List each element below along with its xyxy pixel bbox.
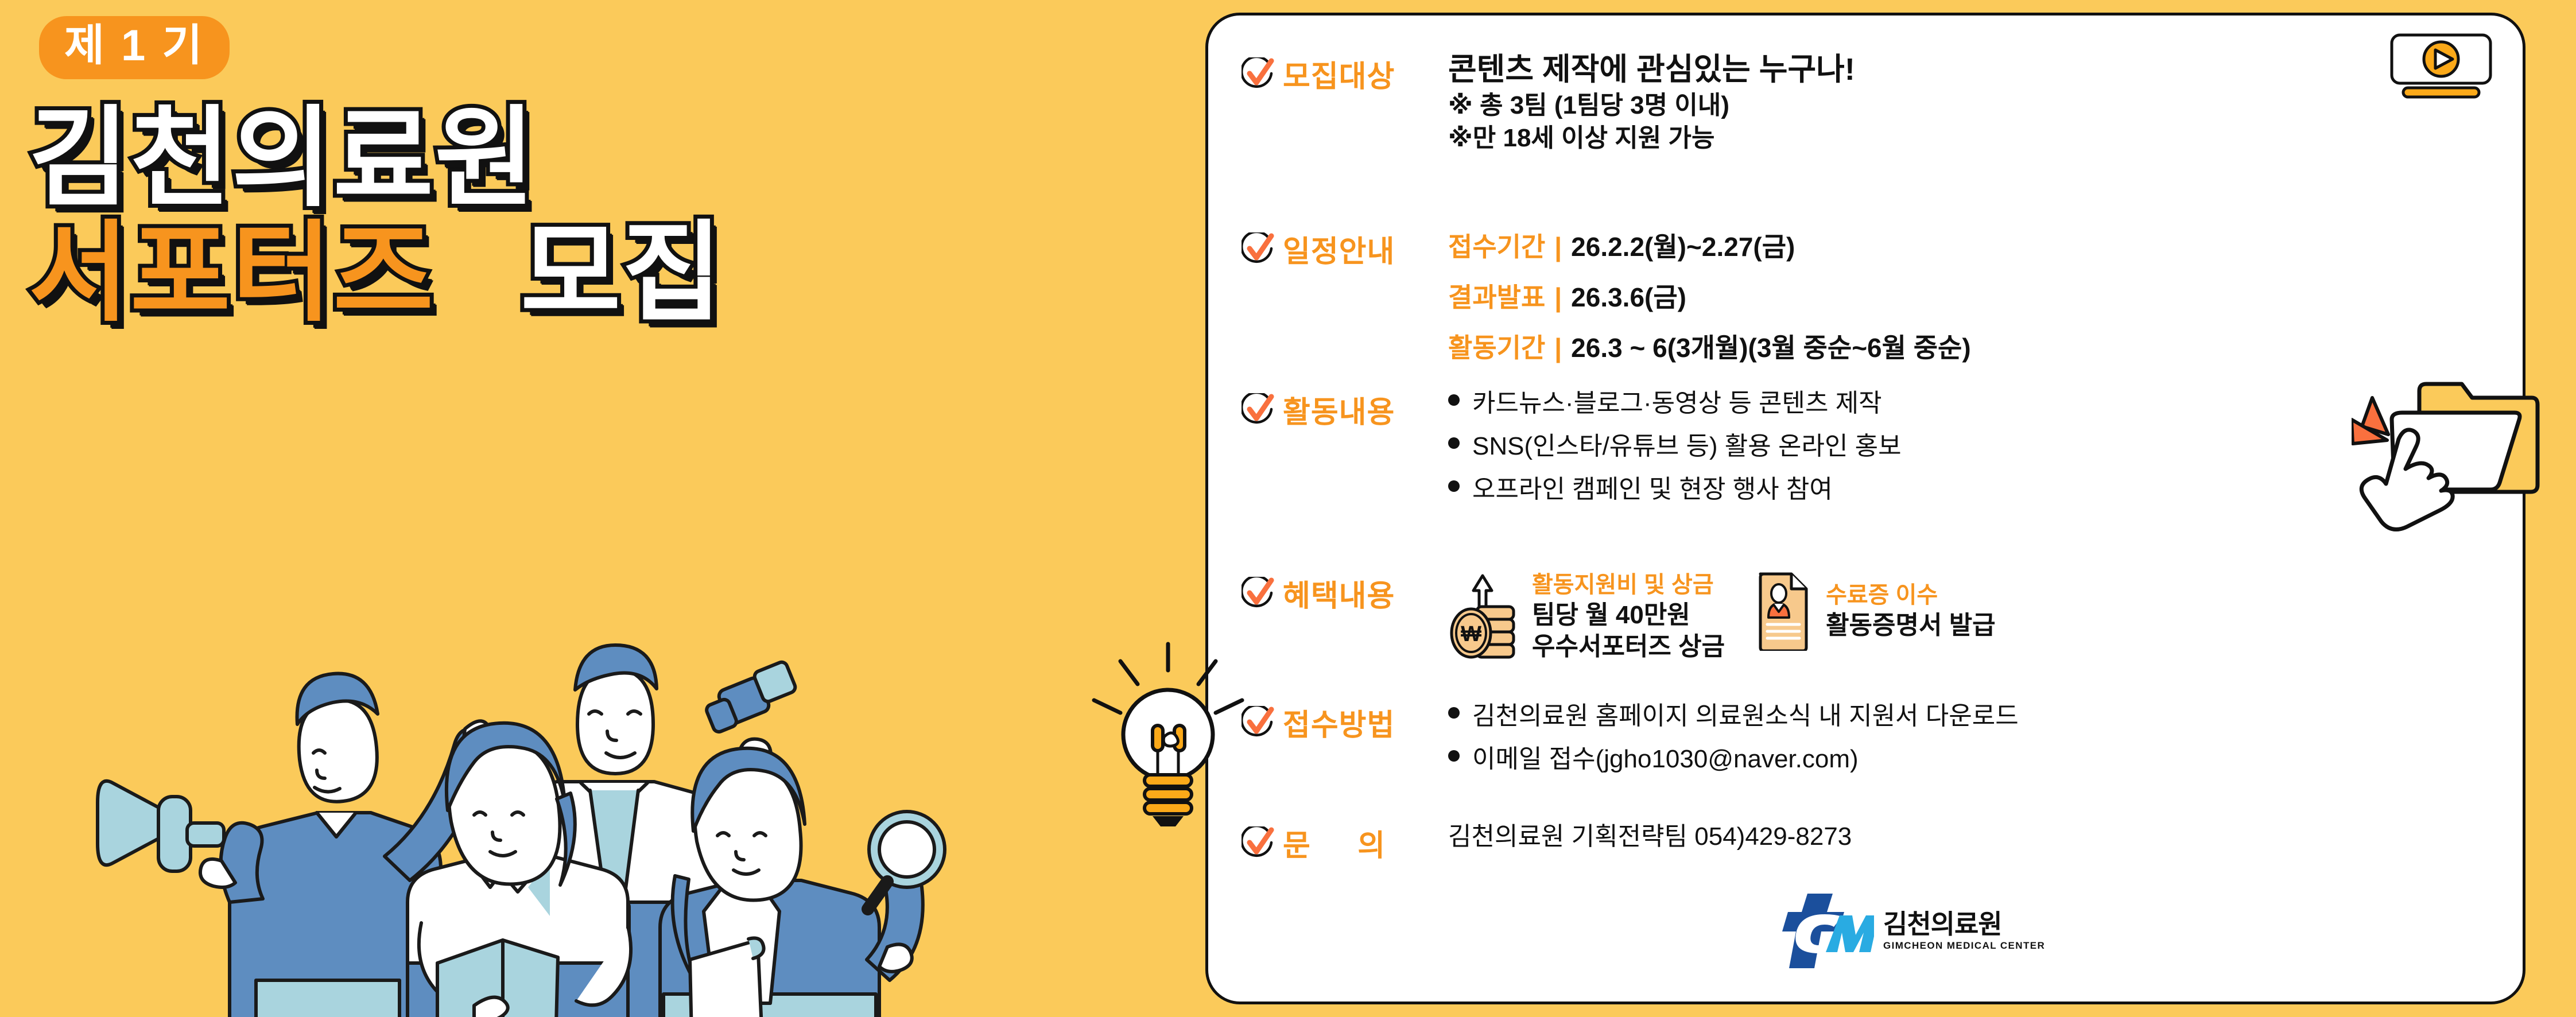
section-schedule: 일정안내 접수기간 | 26.2.2(월)~2.27(금) 결과발표 | 26.…	[1242, 225, 1971, 378]
activity-bullet-1: 카드뉴스·블로그·동영상 등 콘텐츠 제작	[1448, 387, 1902, 421]
schedule-value: 26.2.2(월)~2.27(금)	[1571, 226, 1795, 264]
apply-text-homepage: 김천의료원 홈페이지 의료원소식 내 지원서 다운로드	[1472, 700, 2019, 733]
benefit-line-1: 팀당 월 40만원	[1532, 599, 1725, 631]
headline-word-organization: 김천의료원	[29, 106, 536, 211]
activity-text: 카드뉴스·블로그·동영상 등 콘텐츠 제작	[1472, 387, 1882, 421]
section-label-benefits: 혜택내용	[1242, 569, 1448, 615]
bullet-dot-icon	[1448, 707, 1460, 719]
section-body-inquiry: 김천의료원 기획전략팀 054)429-8273	[1448, 819, 1852, 854]
bullet-dot-icon	[1448, 437, 1460, 449]
headline-line-1: 김천의료원	[29, 106, 1211, 211]
schedule-value: 26.3 ~ 6(3개월)(3월 중순~6월 중순)	[1571, 327, 1971, 365]
section-body-benefits: ₩ 활동지원비 및 상금 팀당 월 40만원 우수서포터즈 상금	[1448, 569, 1996, 662]
benefit-title: 수료증 이수	[1826, 581, 1996, 610]
section-label-text: 혜택내용	[1283, 572, 1395, 615]
headline-word-supporters: 서포터즈	[29, 221, 434, 325]
section-how-to-apply: 접수방법 김천의료원 홈페이지 의료원소식 내 지원서 다운로드 이메일 접수(…	[1242, 698, 2019, 786]
poster-left-panel: 제 1 기 김천의료원 서포터즈 모집	[0, 0, 1211, 1017]
check-circle-icon	[1242, 826, 1275, 860]
section-label-text: 접수방법	[1283, 701, 1395, 744]
check-circle-icon	[1242, 706, 1275, 739]
supporters-team-illustration	[86, 500, 1027, 1017]
apply-bullet-2[interactable]: 이메일 접수(jgho1030@naver.com)	[1448, 743, 2019, 777]
bullet-dot-icon	[1448, 750, 1460, 762]
schedule-separator: |	[1554, 231, 1562, 262]
poster-content-card: 모집대상 콘텐츠 제작에 관심있는 누구나! ※ 총 3팀 (1팀당 3명 이내…	[1205, 13, 2525, 1004]
schedule-key: 결과발표	[1448, 277, 1545, 315]
section-label-text: 모집대상	[1283, 52, 1395, 95]
schedule-key: 활동기간	[1448, 327, 1545, 365]
recruit-target-headline: 콘텐츠 제작에 관심있는 누구나!	[1448, 51, 1855, 89]
benefit-line-2: 우수서포터즈 상금	[1532, 631, 1725, 662]
svg-text:₩: ₩	[1461, 622, 1481, 646]
section-recruit-target: 모집대상 콘텐츠 제작에 관심있는 누구나! ※ 총 3팀 (1팀당 3명 이내…	[1242, 50, 1855, 154]
recruit-target-note-1: ※ 총 3팀 (1팀당 3명 이내)	[1448, 89, 1855, 122]
schedule-separator: |	[1554, 332, 1562, 363]
check-circle-icon	[1242, 57, 1275, 91]
section-body-how-to-apply: 김천의료원 홈페이지 의료원소식 내 지원서 다운로드 이메일 접수(jgho1…	[1448, 698, 2019, 786]
headline-line-2: 서포터즈 모집	[29, 221, 1211, 325]
apply-text-email[interactable]: 이메일 접수(jgho1030@naver.com)	[1472, 743, 1859, 777]
section-label-how-to-apply: 접수방법	[1242, 698, 1448, 744]
poster-headline: 김천의료원 서포터즈 모집	[29, 106, 1211, 326]
schedule-separator: |	[1554, 282, 1562, 313]
headline-word-recruit: 모집	[521, 221, 724, 325]
activity-bullet-3: 오프라인 캠페인 및 현장 행사 참여	[1448, 473, 1902, 507]
section-activities: 활동내용 카드뉴스·블로그·동영상 등 콘텐츠 제작 SNS(인스타/유튜브 등…	[1242, 386, 1902, 516]
activity-text: SNS(인스타/유튜브 등) 활용 온라인 홍보	[1472, 430, 1902, 464]
activity-text: 오프라인 캠페인 및 현장 행사 참여	[1472, 473, 1833, 507]
section-inquiry: 문 의 김천의료원 기획전략팀 054)429-8273	[1242, 819, 1852, 864]
footer-logo: 김천의료원 GIMCHEON MEDICAL CENTER	[1782, 894, 2045, 968]
section-label-text: 문 의	[1283, 821, 1405, 864]
check-circle-icon	[1242, 577, 1275, 610]
batch-badge: 제 1 기	[39, 16, 230, 79]
activity-bullet-2: SNS(인스타/유튜브 등) 활용 온라인 홍보	[1448, 430, 1902, 464]
gmc-logo-mark-icon	[1782, 894, 1874, 968]
bullet-dot-icon	[1448, 394, 1460, 406]
bullet-dot-icon	[1448, 480, 1460, 492]
folder-click-hand-icon	[2352, 360, 2541, 532]
schedule-row-result: 결과발표 | 26.3.6(금)	[1448, 277, 1971, 315]
coins-won-icon: ₩	[1448, 573, 1517, 659]
video-player-play-icon	[2389, 33, 2493, 100]
section-label-recruit-target: 모집대상	[1242, 50, 1448, 95]
section-label-schedule: 일정안내	[1242, 225, 1448, 270]
apply-bullet-1: 김천의료원 홈페이지 의료원소식 내 지원서 다운로드	[1448, 700, 2019, 733]
footer-logo-english: GIMCHEON MEDICAL CENTER	[1883, 940, 2045, 952]
schedule-value: 26.3.6(금)	[1571, 277, 1686, 315]
section-label-text: 활동내용	[1283, 388, 1395, 431]
schedule-row-application: 접수기간 | 26.2.2(월)~2.27(금)	[1448, 226, 1971, 264]
section-body-schedule: 접수기간 | 26.2.2(월)~2.27(금) 결과발표 | 26.3.6(금…	[1448, 225, 1971, 378]
schedule-key: 접수기간	[1448, 226, 1545, 264]
section-benefits: 혜택내용 ₩ 활동지원비 및 상금	[1242, 569, 1996, 662]
section-label-text: 일정안내	[1283, 227, 1395, 270]
benefit-line-1: 활동증명서 발급	[1826, 610, 1996, 641]
benefit-title: 활동지원비 및 상금	[1532, 570, 1725, 599]
certificate-document-icon	[1756, 570, 1811, 651]
recruit-target-note-2: ※만 18세 이상 지원 가능	[1448, 122, 1855, 154]
benefit-item-stipend: ₩ 활동지원비 및 상금 팀당 월 40만원 우수서포터즈 상금	[1448, 570, 1725, 662]
batch-badge-label: 제 1 기	[64, 24, 204, 68]
check-circle-icon	[1242, 393, 1275, 426]
lightbulb-idea-icon	[1085, 638, 1251, 828]
benefit-text-stipend: 활동지원비 및 상금 팀당 월 40만원 우수서포터즈 상금	[1532, 570, 1725, 662]
section-body-recruit-target: 콘텐츠 제작에 관심있는 누구나! ※ 총 3팀 (1팀당 3명 이내) ※만 …	[1448, 50, 1855, 154]
check-circle-icon	[1242, 232, 1275, 266]
benefit-text-certificate: 수료증 이수 활동증명서 발급	[1826, 581, 1996, 641]
section-label-activities: 활동내용	[1242, 386, 1448, 431]
section-body-activities: 카드뉴스·블로그·동영상 등 콘텐츠 제작 SNS(인스타/유튜브 등) 활용 …	[1448, 386, 1902, 516]
benefit-item-certificate: 수료증 이수 활동증명서 발급	[1756, 570, 1996, 651]
inquiry-contact-text: 김천의료원 기획전략팀 054)429-8273	[1448, 820, 1852, 854]
section-label-inquiry: 문 의	[1242, 819, 1448, 864]
schedule-row-activity-period: 활동기간 | 26.3 ~ 6(3개월)(3월 중순~6월 중순)	[1448, 327, 1971, 365]
footer-logo-korean: 김천의료원	[1883, 910, 2045, 938]
footer-logo-text: 김천의료원 GIMCHEON MEDICAL CENTER	[1883, 910, 2045, 952]
